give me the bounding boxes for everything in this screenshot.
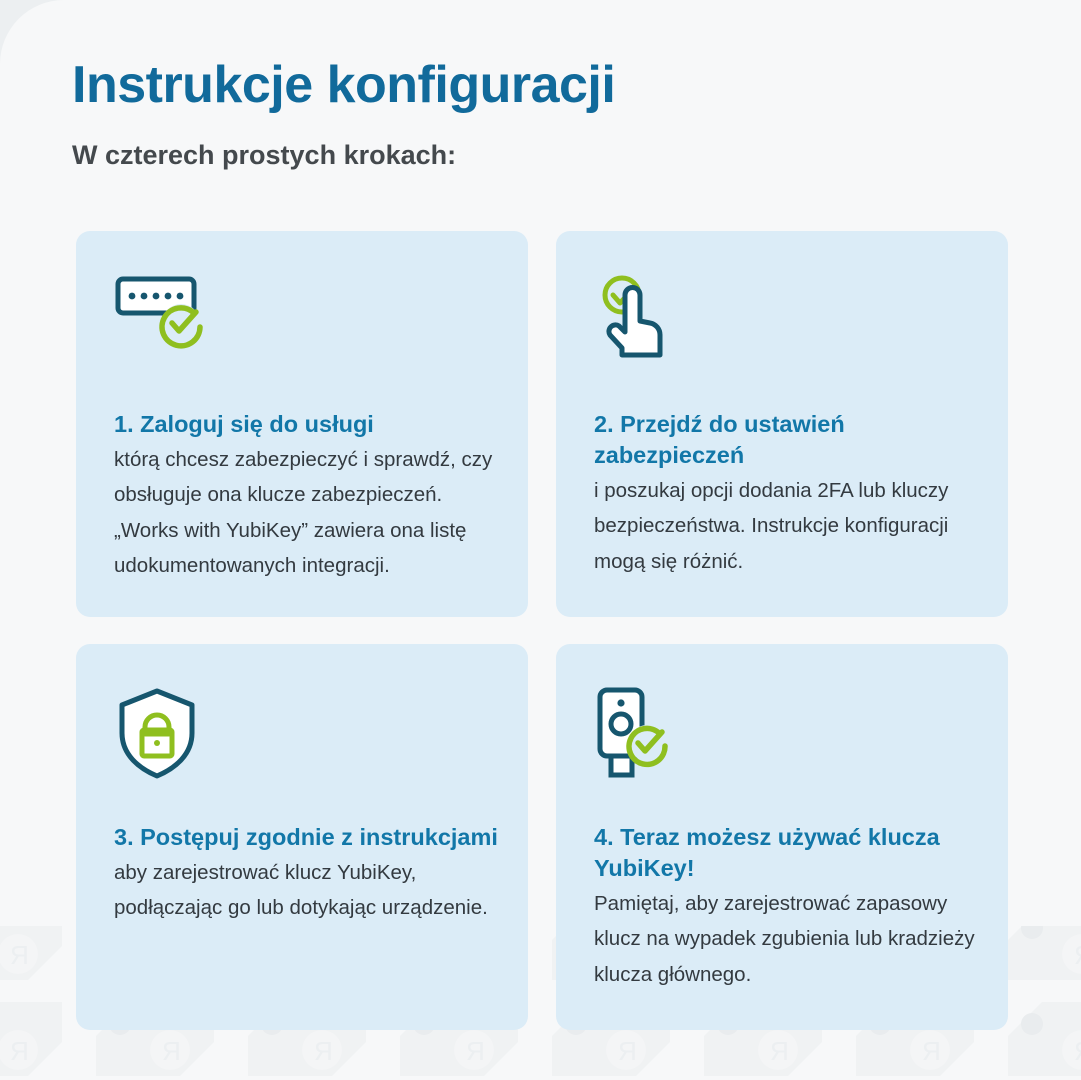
step-card-4-heading: 4. Teraz możesz używać klucza YubiKey! — [594, 822, 980, 884]
step-card-3: 3. Postępuj zgodnie z instrukcjami aby z… — [76, 644, 528, 1030]
step-card-2-heading: 2. Przejdź do ustawień zabezpieczeń — [594, 409, 980, 471]
step-card-3-text: aby zarejestrować klucz YubiKey, podłącz… — [114, 855, 500, 926]
page-root: Я Instrukcje konfiguracji W czterech pro… — [0, 0, 1081, 1080]
step-card-1: 1. Zaloguj się do usługi którą chcesz za… — [76, 231, 528, 617]
page-header: Instrukcje konfiguracji W czterech prost… — [72, 58, 1002, 171]
shield-lock-icon — [114, 686, 490, 772]
step-card-1-body: 1. Zaloguj się do usługi którą chcesz za… — [114, 409, 500, 583]
step-card-1-text: którą chcesz zabezpieczyć i sprawdź, czy… — [114, 442, 500, 583]
step-card-1-heading: 1. Zaloguj się do usługi — [114, 409, 500, 440]
pointing-hand-check-icon — [594, 273, 970, 359]
step-card-3-body: 3. Postępuj zgodnie z instrukcjami aby z… — [114, 822, 500, 926]
step-card-3-heading: 3. Postępuj zgodnie z instrukcjami — [114, 822, 500, 853]
step-card-2: 2. Przejdź do ustawień zabezpieczeń i po… — [556, 231, 1008, 617]
step-card-4-body: 4. Teraz możesz używać klucza YubiKey! P… — [594, 822, 980, 992]
password-field-check-icon — [114, 273, 490, 359]
page-title: Instrukcje konfiguracji — [72, 58, 1002, 113]
step-card-4-text: Pamiętaj, aby zarejestrować zapasowy klu… — [594, 886, 980, 992]
security-key-check-icon — [594, 686, 970, 772]
step-card-2-text: i poszukaj opcji dodania 2FA lub kluczy … — [594, 473, 980, 579]
step-card-4: 4. Teraz możesz używać klucza YubiKey! P… — [556, 644, 1008, 1030]
steps-grid: 1. Zaloguj się do usługi którą chcesz za… — [76, 231, 1008, 1030]
page-subtitle: W czterech prostych krokach: — [72, 139, 1002, 171]
step-card-2-body: 2. Przejdź do ustawień zabezpieczeń i po… — [594, 409, 980, 579]
